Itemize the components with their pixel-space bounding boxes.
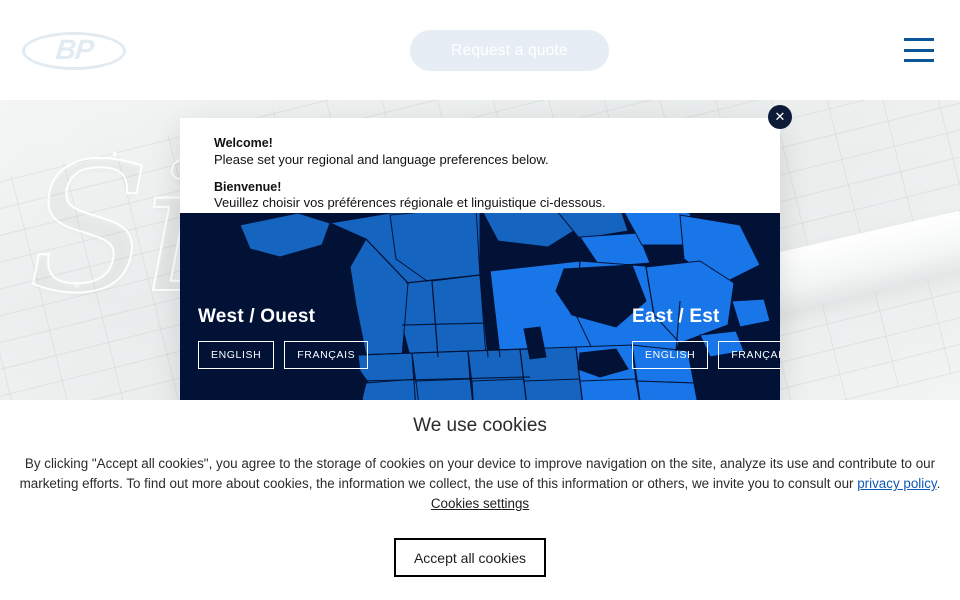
region-language-modal: ✕ Welcome! Please set your regional and …: [180, 118, 780, 403]
welcome-text-en: Please set your regional and language pr…: [214, 152, 746, 169]
cookies-settings-link[interactable]: Cookies settings: [431, 496, 529, 511]
welcome-title-fr: Bienvenue!: [214, 180, 746, 196]
region-west-language-row: ENGLISH FRANÇAIS: [198, 341, 368, 369]
region-west-english-button[interactable]: ENGLISH: [198, 341, 274, 369]
hamburger-bar: [904, 59, 934, 62]
logo-text: BP: [54, 34, 94, 66]
site-header: BP Request a quote: [0, 0, 960, 100]
region-east-language-row: ENGLISH FRANÇAIS: [632, 341, 780, 369]
region-west-title: West / Ouest: [198, 306, 368, 328]
privacy-policy-link[interactable]: privacy policy: [857, 476, 936, 491]
close-icon[interactable]: ✕: [768, 105, 792, 129]
welcome-title-en: Welcome!: [214, 136, 746, 152]
welcome-text-fr: Veuillez choisir vos préférences régiona…: [214, 195, 746, 212]
modal-body: West / Ouest ENGLISH FRANÇAIS East / Est…: [180, 213, 780, 403]
hamburger-bar: [904, 49, 934, 52]
modal-header: Welcome! Please set your regional and la…: [180, 118, 780, 213]
cookie-text-part2: .: [937, 476, 941, 491]
region-east-francais-button[interactable]: FRANÇAIS: [718, 341, 780, 369]
hamburger-menu-icon[interactable]: [904, 38, 934, 62]
region-west: West / Ouest ENGLISH FRANÇAIS: [198, 306, 368, 369]
page-root: Sig BP Request a quote ✕ Welcome! Please…: [0, 0, 960, 600]
cookie-banner: We use cookies By clicking "Accept all c…: [0, 400, 960, 600]
cookie-banner-title: We use cookies: [0, 400, 960, 437]
region-west-francais-button[interactable]: FRANÇAIS: [284, 341, 368, 369]
bp-logo[interactable]: BP: [22, 27, 126, 73]
accept-all-cookies-button[interactable]: Accept all cookies: [394, 538, 546, 577]
region-east: East / Est ENGLISH FRANÇAIS: [632, 306, 780, 369]
cookie-text-part1: By clicking "Accept all cookies", you ag…: [20, 456, 935, 491]
cookie-banner-text: By clicking "Accept all cookies", you ag…: [15, 454, 945, 514]
hamburger-bar: [904, 38, 934, 41]
region-east-english-button[interactable]: ENGLISH: [632, 341, 708, 369]
request-quote-button[interactable]: Request a quote: [410, 30, 609, 71]
region-east-title: East / Est: [632, 306, 780, 328]
